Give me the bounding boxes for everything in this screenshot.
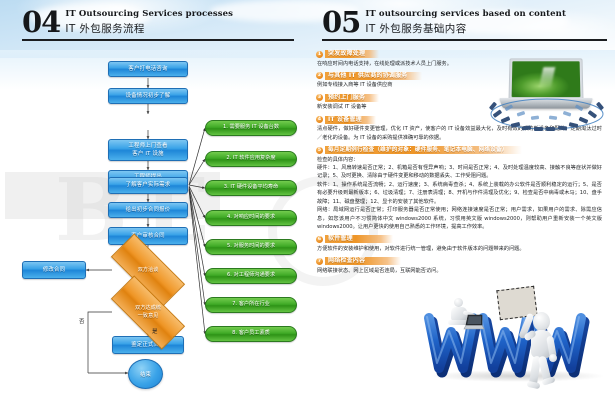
section-body: 在响应时间内电话支持，在线处理或派技术人员上门服务。 — [317, 60, 488, 68]
flowchart: 客户打电话咨询 设备情况初步了解 工程师上门查看 客户 IT 设施 工程师提出 … — [0, 55, 310, 400]
section-bullet-number: 4 — [316, 116, 323, 123]
section-title: 突发故障处理 — [325, 50, 379, 58]
section-header-05: 05 IT outsourcing services based on cont… — [322, 8, 607, 41]
flow-node-b3-label: 工程师上门查看 客户 IT 设施 — [128, 142, 167, 158]
section-header-04: 04 IT Outsourcing Services processes IT … — [22, 8, 294, 41]
header-rule — [322, 39, 607, 41]
section-title: 与其他 IT 供应商的协调服务 — [325, 72, 422, 80]
section-title: IT 设备管理 — [325, 116, 376, 124]
edge-label-no: 否 — [79, 317, 84, 325]
flow-node-b1[interactable]: 客户打电话咨询 — [108, 61, 188, 77]
figure-running — [516, 306, 568, 398]
header-rule — [22, 39, 294, 41]
figure-hand — [549, 354, 557, 362]
section-title-en: IT outsourcing services based on content — [365, 9, 566, 19]
section-bullet-number: 3 — [316, 94, 323, 101]
content-section-2: 2 与其他 IT 供应商的协调服务 例如专线接入商等 IT 设备供应商 — [316, 72, 488, 90]
flow-node-b5[interactable]: 了解客户实际需求 — [108, 177, 188, 194]
flow-decision-d1[interactable]: 双方洽谈 — [112, 254, 184, 287]
section-heading: 7 网络检查内容 — [316, 257, 602, 265]
flow-node-b6[interactable]: 给出初步合同报价 — [108, 202, 188, 218]
section-bullet-number: 7 — [316, 258, 323, 265]
flow-node-b7[interactable]: 客户审核合同 — [108, 227, 188, 245]
section-heading: 3 预约上门服务 — [316, 94, 488, 102]
content-section-3: 3 预约上门服务 新安装调试 IT 设备等 — [316, 94, 488, 112]
factor-box-7[interactable]: 7. 客户所在行业 — [205, 297, 297, 313]
figure-with-laptop — [444, 298, 484, 332]
section-body: 例如专线接入商等 IT 设备供应商 — [317, 81, 488, 89]
section-body: 检查的具体内容： 硬件：1、风扇转速是否正常；2、机箱是否有怪异声响；3、时间是… — [317, 156, 602, 232]
flow-node-end[interactable]: 结束 — [128, 359, 163, 389]
section-bullet-number: 6 — [316, 236, 323, 243]
laptop-wallpaper — [512, 61, 581, 97]
flow-node-b8[interactable]: 修改合同 — [22, 261, 86, 279]
section-title-cn: IT 外包服务基础内容 — [365, 21, 566, 36]
section-body: 新安装调试 IT 设备等 — [317, 103, 488, 111]
flow-decision-d1-label: 双方洽谈 — [138, 267, 159, 275]
factor-box-4[interactable]: 4. 对响应时间的要求 — [205, 210, 297, 226]
flow-node-b2[interactable]: 设备情况初步了解 — [108, 88, 188, 104]
section-bullet-number: 2 — [316, 72, 323, 79]
factor-box-8[interactable]: 8. 客户员工素质 — [205, 326, 297, 342]
section-title: 预约上门服务 — [325, 94, 379, 102]
content-section-6: 6 软件管理 方便软件的安装维护和使用，对软件进行统一管理，避免由于软件版本的问… — [316, 235, 602, 253]
flow-decision-d2-label: 双方达成统 一致意见 — [135, 305, 161, 320]
factor-box-3[interactable]: 3. IT 硬件设备平均寿命 — [205, 180, 297, 196]
section-body: 方便软件的安装维护和使用，对软件进行统一管理，避免由于软件版本的问题带来的问题。 — [317, 245, 602, 253]
section-title-en: IT Outsourcing Services processes — [65, 9, 233, 19]
device-burst-icon — [487, 96, 607, 140]
laptop-icon — [463, 314, 485, 330]
section-heading: 2 与其他 IT 供应商的协调服务 — [316, 72, 488, 80]
factor-box-6[interactable]: 6. 对工程师沟通要求 — [205, 268, 297, 284]
section-heading: 1 突发故障处理 — [316, 50, 488, 58]
laptop-screen — [508, 58, 583, 100]
section-title: 每月定期例行检查（维护的对象：硬件服务、笔记本电脑、网络设备） — [325, 146, 522, 154]
figure-foot-left — [527, 381, 541, 390]
factor-box-5[interactable]: 5. 对服务时间的要求 — [205, 239, 297, 255]
section-title: 软件管理 — [325, 235, 393, 243]
section-heading: 6 软件管理 — [316, 235, 602, 243]
section-body: 网络联接状态、网上区域是否连局，互联网能否访问。 — [317, 267, 602, 275]
flow-decision-d2[interactable]: 双方达成统 一致意见 — [112, 296, 184, 329]
content-section-7: 7 网络检查内容 网络联接状态、网上区域是否连局，互联网能否访问。 — [316, 257, 602, 275]
section-heading: 5 每月定期例行检查（维护的对象：硬件服务、笔记本电脑、网络设备） — [316, 146, 602, 154]
section-bullet-number: 5 — [316, 147, 323, 154]
slide-page: BE 04 IT Outsourcing Services processes … — [0, 0, 615, 400]
figure-head — [454, 298, 463, 307]
www-illustration — [420, 292, 615, 400]
content-section-1: 1 突发故障处理 在响应时间内电话支持，在线处理或派技术人员上门服务。 — [316, 50, 488, 68]
factor-box-1[interactable]: 1. 需要服务 IT 设备台数 — [205, 120, 297, 136]
section-bullet-number: 1 — [316, 51, 323, 58]
section-number: 04 — [22, 8, 60, 37]
flow-node-b9[interactable]: 鉴定正式合同 — [112, 336, 184, 354]
section-title-cn: IT 外包服务流程 — [65, 21, 233, 36]
content-section-5: 5 每月定期例行检查（维护的对象：硬件服务、笔记本电脑、网络设备） 检查的具体内… — [316, 146, 602, 231]
edge-label-yes: 是 — [152, 327, 157, 335]
laptop-illustration — [487, 56, 607, 140]
figure-head — [533, 312, 550, 331]
section-title: 网络检查内容 — [325, 257, 401, 265]
factor-box-2[interactable]: 2. IT 软件应用复杂度 — [205, 151, 297, 167]
section-number: 05 — [322, 8, 360, 37]
flow-node-b3[interactable]: 工程师上门查看 客户 IT 设施 — [108, 139, 188, 161]
